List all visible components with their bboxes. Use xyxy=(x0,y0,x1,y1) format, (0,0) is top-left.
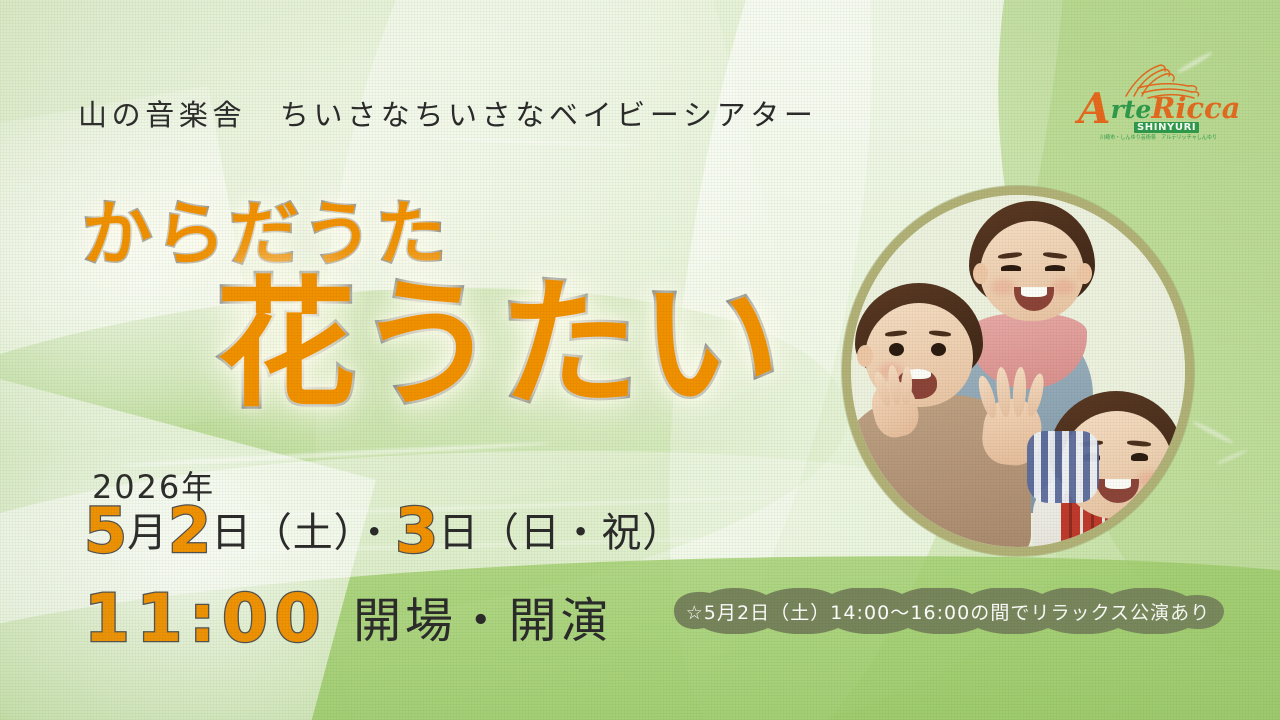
month-number: 5 xyxy=(84,494,127,567)
baby-top-eye xyxy=(1001,265,1021,271)
relax-performance-text: ☆5月2日（土）14:00〜16:00の間でリラックス公演あり xyxy=(648,588,1248,634)
series-subtitle: 山の音楽舎 ちいさなちいさなベイビーシアター xyxy=(78,92,938,134)
logo-letter-a: A xyxy=(1078,84,1111,133)
logo-location-badge: SHINYURI xyxy=(1134,122,1199,133)
showtime-label: 開場・開演 xyxy=(353,593,612,649)
brush-streak xyxy=(1216,448,1249,465)
baby-top-cheek xyxy=(991,279,1015,295)
day2-unit: 日（日・祝） xyxy=(438,510,683,556)
page-title: 花うたい xyxy=(216,276,782,416)
brush-streak xyxy=(1192,419,1235,445)
logo-tagline: 川崎市・しんゆり芸術祭 アルテリッチャしんゆり xyxy=(1100,133,1217,141)
showtime-clock: 11:00 xyxy=(84,580,327,657)
logo-text-rte: rte xyxy=(1111,95,1152,124)
logo-text-ricca: Ricca xyxy=(1151,91,1240,125)
baby-top-ear xyxy=(1077,263,1092,284)
relax-performance-banner: ☆5月2日（土）14:00〜16:00の間でリラックス公演あり xyxy=(648,588,1248,634)
baby-top-cheek xyxy=(1051,279,1075,295)
baby-right-eye xyxy=(1131,453,1148,461)
day2-number: 3 xyxy=(395,494,438,567)
brush-streak xyxy=(430,136,640,147)
month-unit: 月 xyxy=(127,510,168,556)
poster-canvas: 山の音楽舎 ちいさなちいさなベイビーシアター からだうた 花うたい 2026年 … xyxy=(0,0,1280,720)
date-line: 5月2日（土）・3日（日・祝） xyxy=(84,500,683,562)
baby-left-eye xyxy=(931,343,946,356)
baby-right-ear xyxy=(1163,455,1179,477)
arte-ricca-logo[interactable]: ArteRicca SHINYURI 川崎市・しんゆり芸術祭 アルテリッチャしん… xyxy=(1078,62,1208,144)
baby-right-teeth xyxy=(1105,479,1132,489)
day1-number: 2 xyxy=(168,494,211,567)
baby-top-eye xyxy=(1045,265,1065,271)
baby-photo-circle xyxy=(842,186,1194,556)
time-line: 11:00開場・開演 xyxy=(84,586,612,652)
baby-right-cheek xyxy=(1137,471,1163,488)
checkered-cushion xyxy=(1027,431,1099,503)
baby-top-ear xyxy=(973,263,988,284)
baby-top-teeth xyxy=(1021,287,1047,297)
baby-left-ear xyxy=(857,345,873,367)
day1-unit: 日（土）・ xyxy=(211,510,395,556)
baby-left-eye xyxy=(889,343,904,356)
